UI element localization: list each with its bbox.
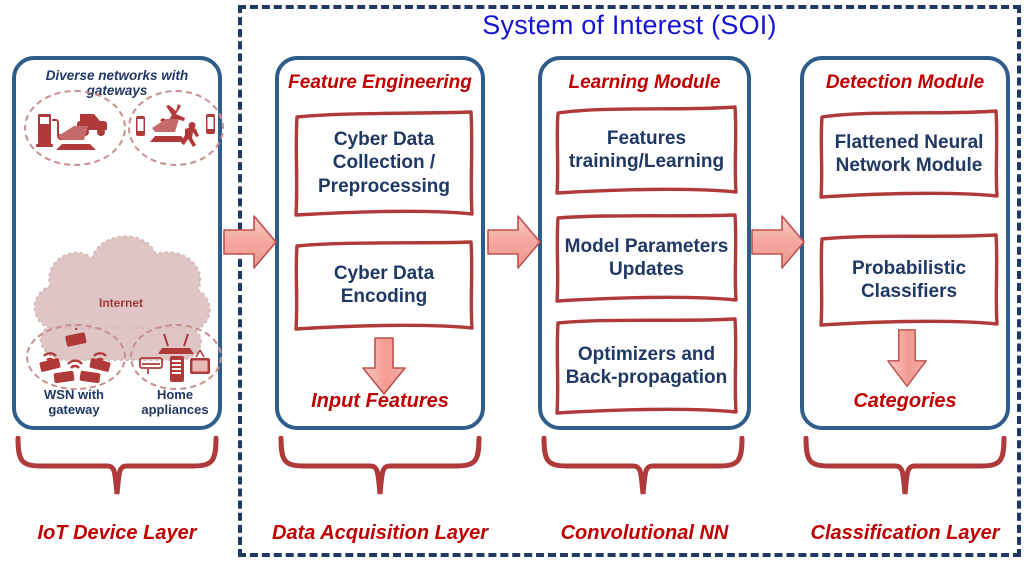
arrow-down-input-features: [360, 336, 408, 398]
detection-module-title: Detection Module: [804, 72, 1006, 94]
box-text: Features training/Learning: [554, 104, 739, 196]
line-1: Model Parameters: [565, 235, 729, 258]
box-text: Cyber Data Encoding: [293, 238, 475, 332]
box-text: Model Parameters Updates: [554, 212, 739, 304]
arrow-right-feature-to-learning: [486, 212, 542, 272]
mobility-icons: [134, 98, 218, 158]
home-caption-line1: Home: [157, 387, 193, 402]
layer-label-convolutional-nn: Convolutional NN: [538, 522, 751, 545]
box-text: Optimizers and Back-propagation: [554, 316, 739, 416]
arrow-right-learning-to-detection: [750, 212, 806, 272]
input-features-label: Input Features: [279, 390, 481, 413]
brace-classification-layer: [800, 436, 1010, 500]
system-of-interest-title: System of Interest (SOI): [238, 10, 1021, 41]
brace-convolutional-nn: [538, 436, 748, 500]
line-2: Encoding: [341, 285, 428, 308]
panel-detection-module: Detection Module Flattened Neural Networ…: [800, 56, 1010, 430]
learning-module-title: Learning Module: [542, 72, 747, 94]
box-text: Cyber Data Collection / Preprocessing: [293, 108, 475, 218]
line-1: Cyber Data: [334, 128, 434, 151]
vehicles-icons: [32, 100, 120, 158]
line-3: Preprocessing: [318, 175, 450, 198]
line-1: Flattened Neural: [835, 131, 984, 154]
box-model-parameters-updates: Model Parameters Updates: [554, 212, 739, 304]
box-text: Probabilistic Classifiers: [818, 232, 1000, 328]
layer-label-iot: IoT Device Layer: [12, 522, 222, 545]
line-2: Network Module: [836, 154, 983, 177]
box-probabilistic-classifiers: Probabilistic Classifiers: [818, 232, 1000, 328]
layer-label-data-acquisition: Data Acquisition Layer: [266, 522, 494, 545]
group-wsn: [26, 324, 126, 390]
arrow-down-categories: [883, 328, 931, 390]
panel-feature-engineering: Feature Engineering Cyber Data Collectio…: [275, 56, 485, 430]
group-vehicles: [24, 90, 126, 166]
arrow-right-iot-to-feature: [222, 212, 278, 272]
diagram-canvas: System of Interest (SOI) Diverse network…: [0, 0, 1026, 564]
group-mobility: [128, 90, 224, 166]
line-1: Optimizers and: [578, 343, 715, 366]
line-1: Features: [607, 127, 686, 150]
brace-data-acquisition-layer: [275, 436, 485, 500]
wsn-caption: WSN with gateway: [22, 388, 126, 418]
line-2: Classifiers: [861, 280, 957, 303]
wsn-caption-line1: WSN with: [44, 387, 104, 402]
categories-label: Categories: [804, 390, 1006, 413]
line-2: Updates: [609, 258, 684, 281]
group-home-appliances: [130, 324, 222, 390]
wsn-icons: [32, 328, 120, 386]
home-caption-line2: appliances: [141, 402, 208, 417]
box-text: Flattened Neural Network Module: [818, 108, 1000, 200]
line-2: Collection /: [333, 151, 435, 174]
home-appliance-icons: [136, 328, 216, 386]
line-1: Cyber Data: [334, 262, 434, 285]
box-flattened-neural-network: Flattened Neural Network Module: [818, 108, 1000, 200]
wsn-caption-line2: gateway: [48, 402, 99, 417]
home-caption: Home appliances: [128, 388, 222, 418]
panel-iot-device-layer: Diverse networks with gateways: [12, 56, 222, 430]
feature-engineering-title: Feature Engineering: [279, 72, 481, 94]
layer-label-classification: Classification Layer: [796, 522, 1014, 545]
box-cyber-data-collection: Cyber Data Collection / Preprocessing: [293, 108, 475, 218]
cloud-label: Internet: [22, 296, 220, 310]
line-2: training/Learning: [569, 150, 724, 173]
line-2: Back-propagation: [566, 366, 728, 389]
box-features-training: Features training/Learning: [554, 104, 739, 196]
panel-learning-module: Learning Module Features training/Learni…: [538, 56, 751, 430]
line-1: Probabilistic: [852, 257, 966, 280]
brace-iot-device-layer: [12, 436, 222, 500]
box-cyber-data-encoding: Cyber Data Encoding: [293, 238, 475, 332]
box-optimizers-backpropagation: Optimizers and Back-propagation: [554, 316, 739, 416]
